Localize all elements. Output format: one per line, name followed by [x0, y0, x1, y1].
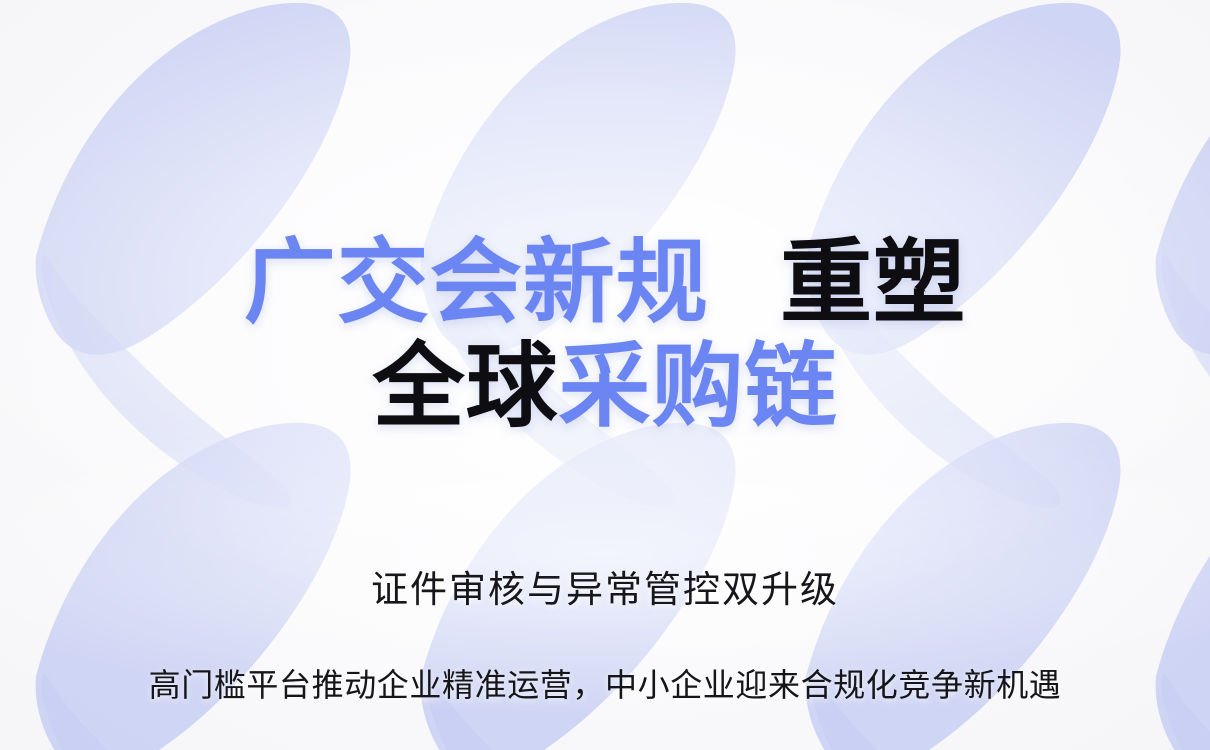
headline-accent-2: 采购链 [559, 336, 838, 438]
poster-content: 广交会新规 重塑 全球采购链 证件审核与异常管控双升级 高门槛平台推动企业精准运… [0, 0, 1210, 750]
poster-canvas: 广交会新规 重塑 全球采购链 证件审核与异常管控双升级 高门槛平台推动企业精准运… [0, 0, 1210, 750]
page-title: 广交会新规 重塑 全球采购链 [244, 232, 966, 440]
subtitle: 证件审核与异常管控双升级 [371, 559, 839, 613]
headline-line-1: 广交会新规 重塑 [244, 232, 966, 336]
headline-line-2: 全球采购链 [244, 336, 966, 440]
headline-dark-1: 重塑 [780, 232, 966, 334]
headline-dark-2: 全球 [372, 336, 558, 438]
headline-accent-1: 广交会新规 [244, 232, 709, 334]
description-text: 高门槛平台推动企业精准运营，中小企业迎来合规化竞争新机遇 [149, 660, 1062, 706]
